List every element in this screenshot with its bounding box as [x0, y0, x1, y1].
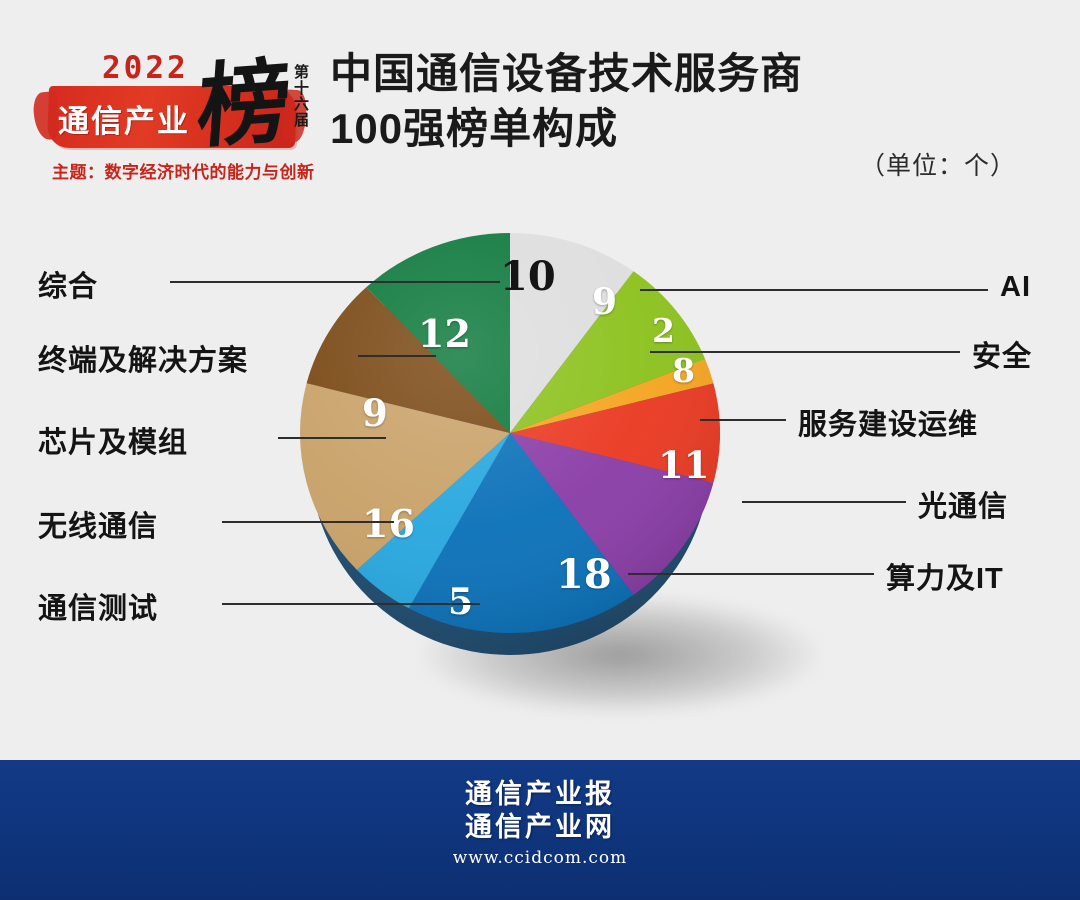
- leader-line-guang: [742, 501, 906, 503]
- page-title: 中国通信设备技术服务商 100强榜单构成: [330, 46, 980, 156]
- pie-graphic: 10 9 2 8 11 18 5 16 9 12: [300, 233, 720, 663]
- leader-line-zhongduan: [358, 355, 436, 357]
- slice-value-anquan: 2: [652, 311, 675, 350]
- slice-value-suanli: 18: [556, 551, 612, 598]
- logo-edition-text: 第十六届: [288, 64, 310, 128]
- callout-label-wuxian: 无线通信: [38, 503, 158, 545]
- footer-url: www.ccidcom.com: [0, 844, 1080, 872]
- slice-value-zhongduan: 12: [418, 311, 471, 356]
- callout-label-ai: AI: [1000, 271, 1031, 304]
- slice-value-ai: 9: [592, 281, 617, 323]
- leader-line-suanli: [628, 573, 874, 575]
- callout-label-fuwu: 服务建设运维: [798, 401, 978, 443]
- slice-value-wuxian: 16: [362, 501, 415, 546]
- slice-value-xinpian: 9: [362, 391, 388, 435]
- leader-line-ai: [640, 289, 988, 291]
- footer-brand: 通信产业报 通信产业网 www.ccidcom.com: [0, 778, 1080, 872]
- header: 2022 通信产业 榜 第十六届 主题：数字经济时代的能力与创新 中国通信设备技…: [0, 0, 1080, 220]
- pie-chart: 10 9 2 8 11 18 5 16 9 12 综合 终端及解决方案 芯片及模…: [0, 215, 1080, 760]
- callout-label-zonghe: 综合: [38, 263, 98, 305]
- footer-line-2: 通信产业网: [0, 811, 1080, 844]
- slice-value-ceshi: 5: [448, 581, 473, 623]
- logo-theme-text: 主题：数字经济时代的能力与创新: [52, 158, 315, 183]
- slice-value-zonghe: 10: [500, 253, 556, 300]
- callout-label-guang: 光通信: [918, 483, 1008, 525]
- leader-line-fuwu: [700, 419, 786, 421]
- leader-line-anquan: [650, 351, 960, 353]
- leader-line-ceshi: [222, 603, 480, 605]
- logo-year: 2022: [102, 50, 189, 86]
- callout-label-xinpian: 芯片及模组: [38, 419, 188, 461]
- callout-label-suanli: 算力及IT: [886, 555, 1004, 597]
- slice-value-fuwu: 8: [672, 351, 695, 390]
- logo-bang-calligraphy: 榜: [194, 55, 293, 153]
- callout-label-zhongduan: 终端及解决方案: [38, 337, 248, 379]
- leader-line-zonghe: [170, 281, 500, 283]
- footer-line-1: 通信产业报: [0, 778, 1080, 811]
- callout-label-ceshi: 通信测试: [38, 585, 158, 627]
- title-line-1: 中国通信设备技术服务商: [330, 46, 980, 101]
- leader-line-xinpian: [278, 437, 386, 439]
- leader-line-wuxian: [222, 521, 394, 523]
- event-logo: 2022 通信产业 榜 第十六届 主题：数字经济时代的能力与创新: [30, 38, 320, 188]
- unit-note: （单位：个）: [860, 146, 1016, 182]
- infographic-page: 2022 通信产业 榜 第十六届 主题：数字经济时代的能力与创新 中国通信设备技…: [0, 0, 1080, 900]
- callout-label-anquan: 安全: [972, 333, 1032, 375]
- footer-banner: 通信产业报 通信产业网 www.ccidcom.com: [0, 760, 1080, 900]
- slice-value-guang: 11: [658, 443, 710, 487]
